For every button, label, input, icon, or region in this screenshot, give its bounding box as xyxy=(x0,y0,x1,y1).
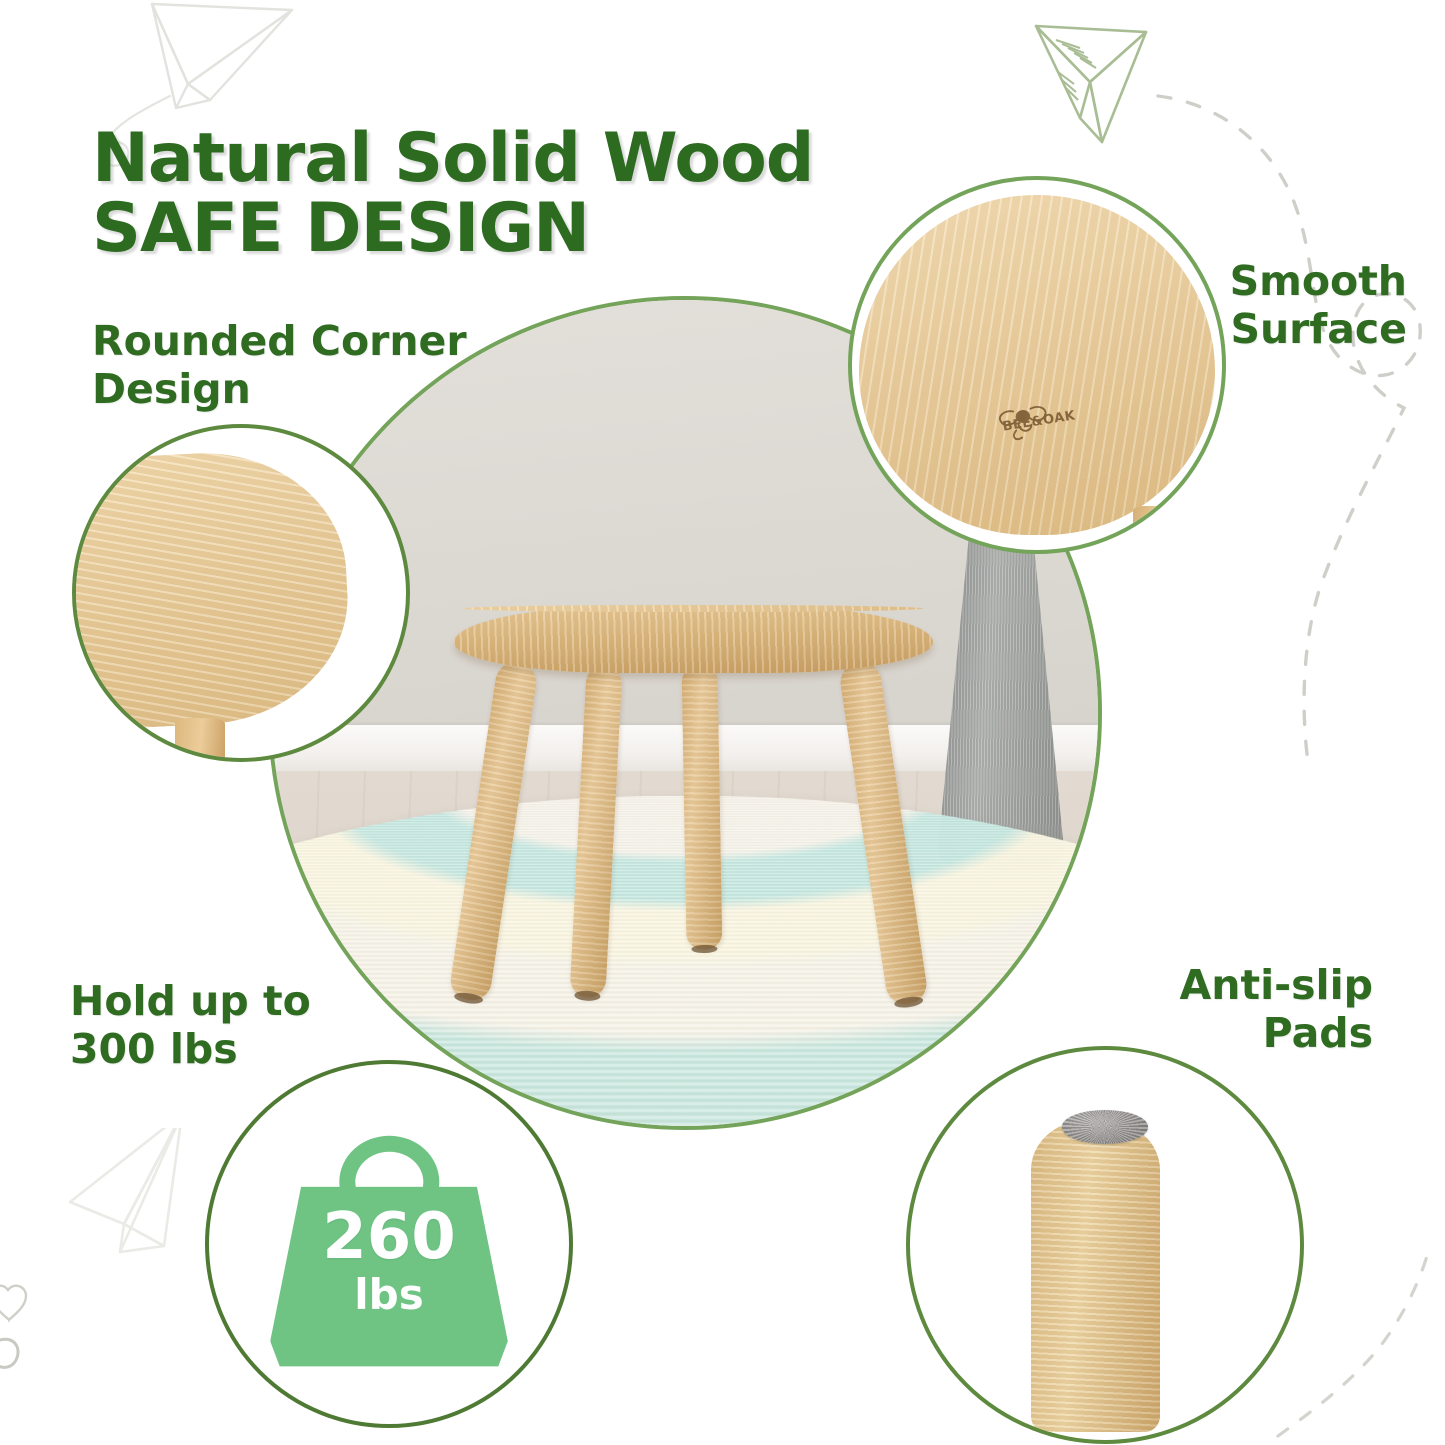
detail-bubble-weight-badge: 260 lbs xyxy=(205,1060,573,1428)
callout-smooth-surface: Smooth Surface xyxy=(987,258,1407,353)
stool-seat-top xyxy=(463,605,923,612)
paper-plane-icon-bottom-left xyxy=(14,1128,224,1288)
callout-rounded-corner: Rounded Corner Design xyxy=(92,318,562,413)
heart-icon xyxy=(0,1268,92,1398)
callout-weight-capacity: Hold up to 300 lbs xyxy=(70,978,470,1073)
felt-pad xyxy=(1062,1110,1148,1143)
headline-line-1: Natural Solid Wood xyxy=(92,119,813,198)
stool-leg-partial xyxy=(175,718,225,762)
stool-leg-partial xyxy=(1133,506,1181,554)
stool-leg xyxy=(448,660,539,1003)
weight-value: 260 xyxy=(270,1205,508,1269)
callout-anti-slip-pads: Anti-slip Pads xyxy=(973,962,1373,1057)
stool-leg xyxy=(570,664,623,998)
weight-icon: 260 lbs xyxy=(270,1136,508,1366)
brand-mark: BEE&OAK xyxy=(988,392,1090,451)
stool-leg-closeup xyxy=(1031,1120,1160,1432)
weight-unit: lbs xyxy=(270,1274,508,1316)
stool-leg xyxy=(681,665,722,951)
detail-bubble-rounded-corner xyxy=(72,424,410,762)
paper-plane-icon-top-right xyxy=(1022,10,1222,170)
rounded-corner-closeup xyxy=(72,446,353,733)
wooden-stool xyxy=(454,606,933,1002)
detail-bubble-anti-slip-pad xyxy=(906,1046,1304,1444)
page-title: Natural Solid Wood SAFE DESIGN xyxy=(92,124,952,265)
infographic-canvas: Natural Solid Wood SAFE DESIGN Rounded C… xyxy=(0,0,1445,1445)
stool-leg xyxy=(838,660,929,1007)
headline-line-2: SAFE DESIGN xyxy=(92,194,952,265)
stool-seat xyxy=(454,606,933,673)
